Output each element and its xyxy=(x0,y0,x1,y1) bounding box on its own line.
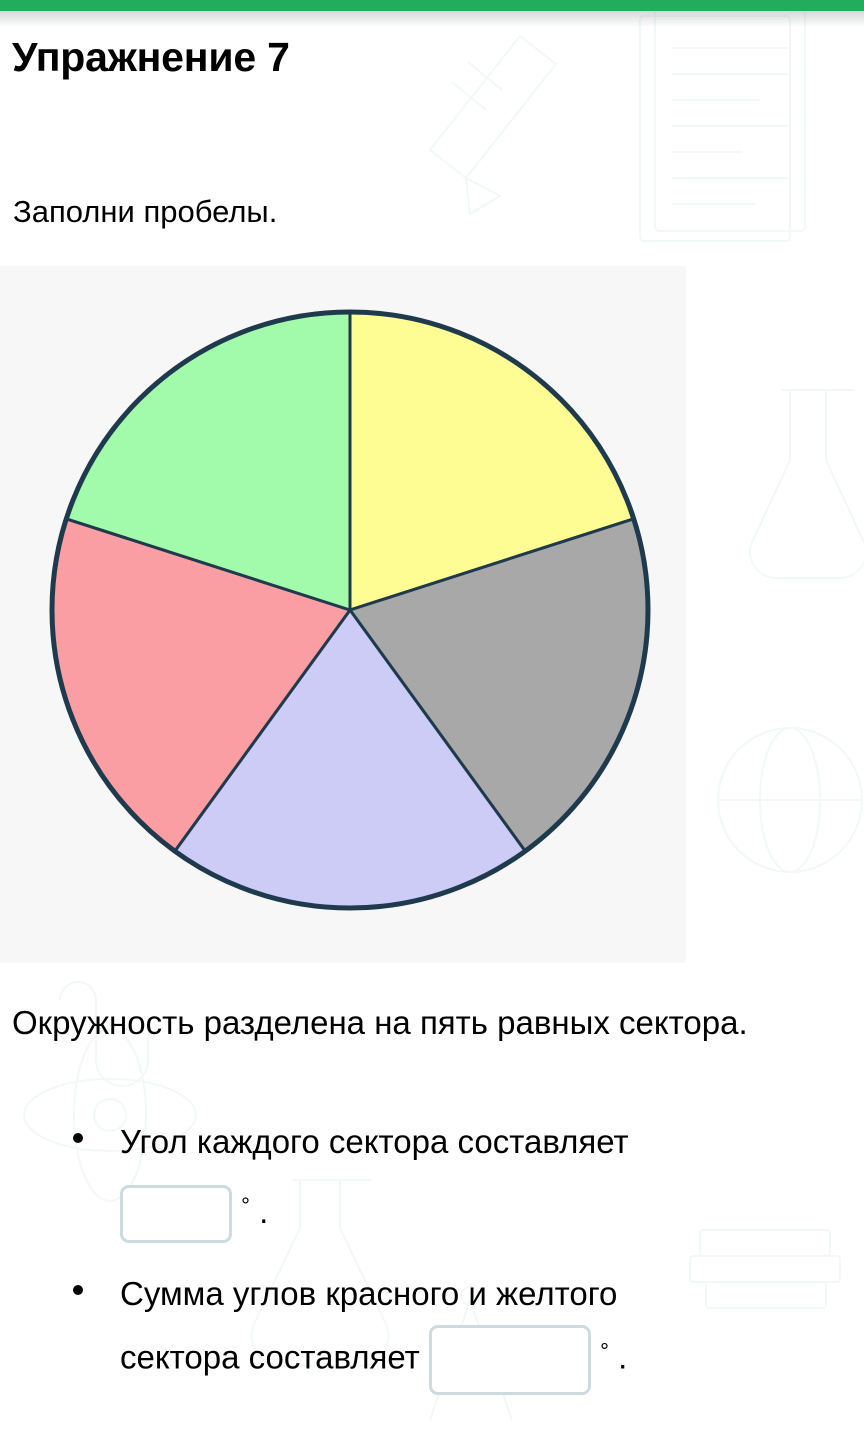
statement-text: Окружность разделена на пять равных сект… xyxy=(12,1000,852,1046)
bullet-dot-icon xyxy=(73,1133,83,1143)
figure-panel xyxy=(0,266,686,963)
bullet-label-angle-each-sector: Угол каждого сектора составляет xyxy=(120,1123,629,1160)
period-2: . xyxy=(618,1339,627,1376)
sum-red-yellow-input[interactable] xyxy=(429,1325,591,1395)
pie-chart xyxy=(0,266,686,963)
bullet-item-sum-red-yellow: Сумма углов красного и желтого сектора с… xyxy=(66,1269,856,1395)
degree-symbol-1: ° xyxy=(241,1193,250,1218)
exercise-prompt: Заполни пробелы. xyxy=(13,196,277,227)
app-top-bar xyxy=(0,0,864,11)
answer-bullet-list: Угол каждого сектора составляет ° . Сумм… xyxy=(66,1117,856,1395)
exercise-content: Упражнение 7 Заполни пробелы. Окруж xyxy=(0,0,864,1439)
top-bar-shadow xyxy=(0,11,864,27)
answer-row-sum-red-yellow: сектора составляет ° . xyxy=(120,1325,856,1395)
page-title: Упражнение 7 xyxy=(12,37,290,78)
answer-row-angle-each-sector: ° . xyxy=(120,1181,856,1243)
bullet-dot-icon xyxy=(73,1285,83,1295)
period-1: . xyxy=(259,1193,268,1230)
bullet-item-angle-each-sector: Угол каждого сектора составляет ° . xyxy=(66,1117,856,1243)
degree-symbol-2: ° xyxy=(600,1339,609,1364)
bullet-label-sum-red-yellow-line1: Сумма углов красного и желтого xyxy=(120,1275,617,1312)
bullet-label-sum-red-yellow-line2: сектора составляет xyxy=(120,1339,420,1376)
angle-each-sector-input[interactable] xyxy=(120,1185,232,1243)
